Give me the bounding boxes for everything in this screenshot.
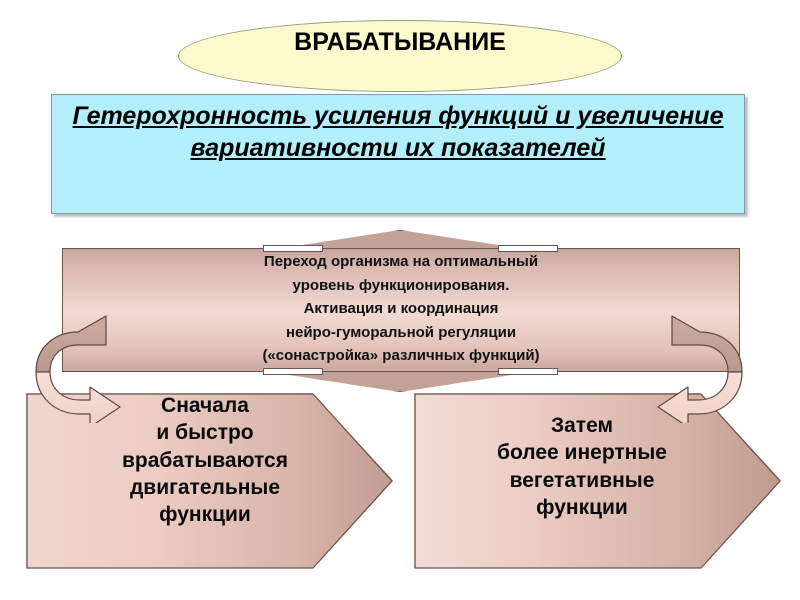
right-arrow-box-text: Затем более инертные вегетативные функци… [432,412,732,521]
left-arrow-line: функции [60,501,350,528]
slide-canvas: Переход организма на оптимальный уровень… [0,0,800,600]
chevron-tab-bottom-right [498,368,558,375]
right-arrow-line: более инертные [432,439,732,466]
subtitle-text: Гетерохронность усиления функций и увели… [51,100,745,164]
curved-arrow-left-icon [28,288,158,423]
middle-band-line: Переход организма на оптимальный [62,250,740,274]
left-arrow-line: и быстро [60,419,350,446]
curved-arrow-right-icon [620,288,750,423]
right-arrow-line: функции [432,494,732,521]
left-arrow-line: двигательные [60,474,350,501]
title-text: ВРАБАТЫВАНИЕ [275,28,525,57]
right-arrow-line: вегетативные [432,467,732,494]
left-arrow-line: врабатываются [60,447,350,474]
chevron-tab-bottom-left [263,368,323,375]
